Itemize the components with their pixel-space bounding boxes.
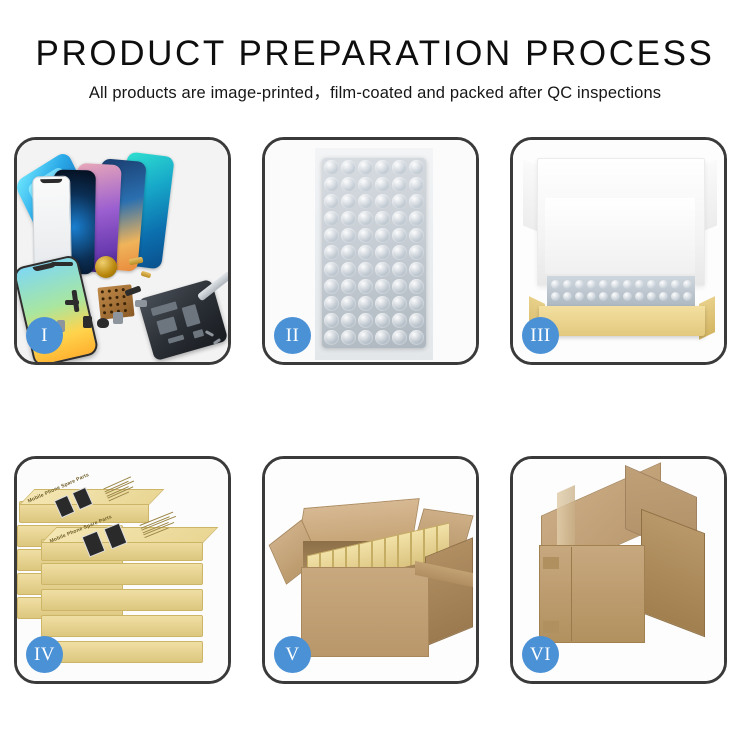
- step-panel-2: II: [262, 137, 479, 365]
- carton-front-face: [301, 567, 429, 657]
- kraft-tray-front: [539, 306, 705, 336]
- step-badge-4: IV: [26, 636, 63, 673]
- carton-tab-lower: [543, 621, 559, 633]
- step-panel-1: I: [14, 137, 231, 365]
- sealed-carton-seam: [571, 547, 572, 641]
- camera-module-part: [113, 312, 123, 324]
- page-title: PRODUCT PREPARATION PROCESS: [0, 34, 750, 74]
- step-badge-3: III: [522, 317, 559, 354]
- bubble-wrapped-product: [322, 158, 426, 348]
- bubble-wrapped-contents: [547, 276, 695, 310]
- step-badge-6: VI: [522, 636, 559, 673]
- step-badge-2: II: [274, 317, 311, 354]
- vibrator-part: [135, 300, 147, 307]
- stacked-box-f-4: [41, 641, 203, 663]
- header: PRODUCT PREPARATION PROCESS All products…: [0, 0, 750, 103]
- step-panel-3: III: [510, 137, 727, 365]
- carton-tab-upper: [543, 557, 559, 569]
- phone-screen-fan: [29, 150, 228, 275]
- step-panel-5: V: [262, 456, 479, 684]
- white-foam-insert: [545, 198, 695, 274]
- steps-grid: I II: [14, 137, 736, 684]
- product-preparation-infographic: PRODUCT PREPARATION PROCESS All products…: [0, 0, 750, 750]
- stacked-box-f-3: [41, 615, 203, 637]
- page-subtitle: All products are image-printed，film-coat…: [0, 83, 750, 103]
- gold-coil-part: [95, 256, 117, 278]
- speaker-part: [97, 318, 109, 328]
- antenna-strip-part: [65, 300, 79, 305]
- step-panel-6: VI: [510, 456, 727, 684]
- earpiece-mesh-part: [51, 262, 73, 266]
- sim-tray-part: [83, 316, 92, 328]
- step-badge-1: I: [26, 317, 63, 354]
- stacked-box-f-2: [41, 589, 203, 611]
- step-panel-4: Mobile Phone Spare Parts Mobile Phone Sp…: [14, 456, 231, 684]
- step-badge-5: V: [274, 636, 311, 673]
- stacked-box-f-1: [41, 563, 203, 585]
